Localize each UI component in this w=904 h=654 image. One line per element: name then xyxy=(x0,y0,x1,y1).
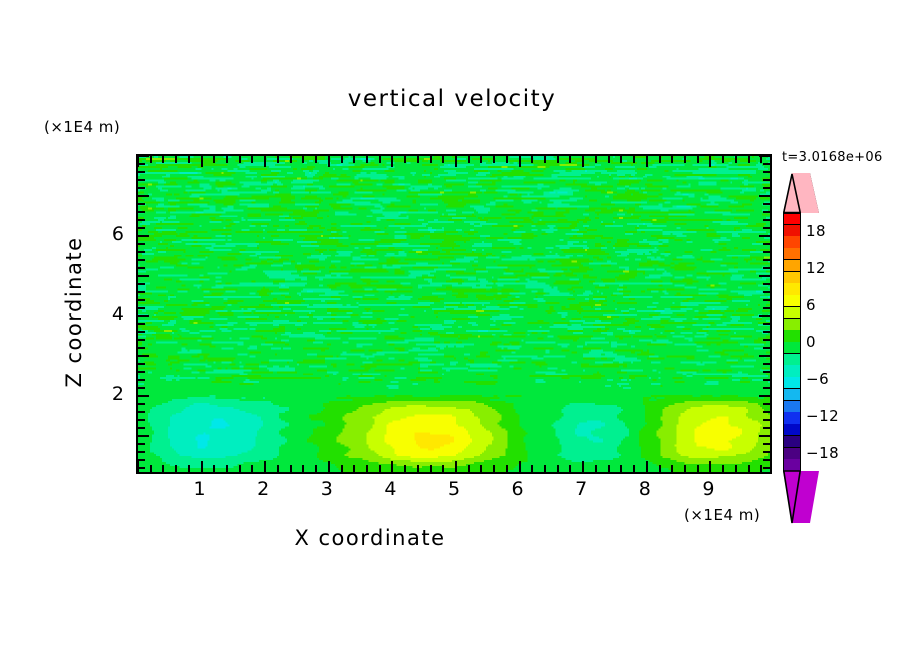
colorbar-band xyxy=(783,389,801,401)
colorbar-band xyxy=(783,401,801,413)
colorbar-tick-label: −12 xyxy=(806,407,839,425)
colorbar-band xyxy=(783,412,801,424)
colorbar-tick-label: 0 xyxy=(806,333,816,351)
colorbar-band xyxy=(783,225,801,237)
colorbar-band xyxy=(783,319,801,331)
vertical-velocity-field xyxy=(138,156,770,472)
x-tick-label: 8 xyxy=(639,478,651,500)
colorbar-band xyxy=(783,448,801,460)
x-tick-label: 5 xyxy=(448,478,460,500)
x-tick-label: 4 xyxy=(384,478,396,500)
colorbar-band xyxy=(783,377,801,389)
contour-plot-area xyxy=(136,154,772,474)
y-tick-label: 4 xyxy=(84,303,124,325)
colorbar-band xyxy=(783,260,801,272)
colorbar-band xyxy=(783,295,801,307)
x-tick-label: 3 xyxy=(321,478,333,500)
x-axis-unit-label: (×1E4 m) xyxy=(684,506,760,524)
colorbar-band xyxy=(783,354,801,366)
colorbar-band xyxy=(783,236,801,248)
timestamp-annotation: t=3.0168e+06 xyxy=(782,150,883,165)
chart-title: vertical velocity xyxy=(0,86,904,112)
y-tick-label: 2 xyxy=(84,383,124,405)
x-tick-label: 7 xyxy=(575,478,587,500)
y-axis-title: Z coordinate xyxy=(62,202,86,422)
colorbar-band xyxy=(783,248,801,260)
colorbar-band xyxy=(783,272,801,284)
x-axis-title: X coordinate xyxy=(0,526,740,550)
colorbar-band xyxy=(783,213,801,225)
colorbar-tick-label: −6 xyxy=(806,370,829,388)
y-axis-unit-label: (×1E4 m) xyxy=(44,118,120,136)
colorbar-band xyxy=(783,330,801,342)
colorbar-band xyxy=(783,365,801,377)
colorbar-band xyxy=(783,283,801,295)
colorbar-over-arrow xyxy=(783,173,819,213)
colorbar-tick-label: 18 xyxy=(806,222,826,240)
colorbar[interactable] xyxy=(783,213,801,471)
y-tick-label: 6 xyxy=(84,223,124,245)
colorbar-band xyxy=(783,436,801,448)
x-tick-label: 6 xyxy=(512,478,524,500)
colorbar-band xyxy=(783,459,801,471)
x-tick-label: 2 xyxy=(257,478,269,500)
x-tick-label: 1 xyxy=(194,478,206,500)
colorbar-band xyxy=(783,307,801,319)
colorbar-band xyxy=(783,342,801,354)
x-tick-label: 9 xyxy=(702,478,714,500)
colorbar-band xyxy=(783,424,801,436)
colorbar-tick-label: 6 xyxy=(806,296,816,314)
colorbar-tick-label: 12 xyxy=(806,259,826,277)
colorbar-under-arrow xyxy=(783,471,819,523)
colorbar-tick-label: −18 xyxy=(806,444,839,462)
